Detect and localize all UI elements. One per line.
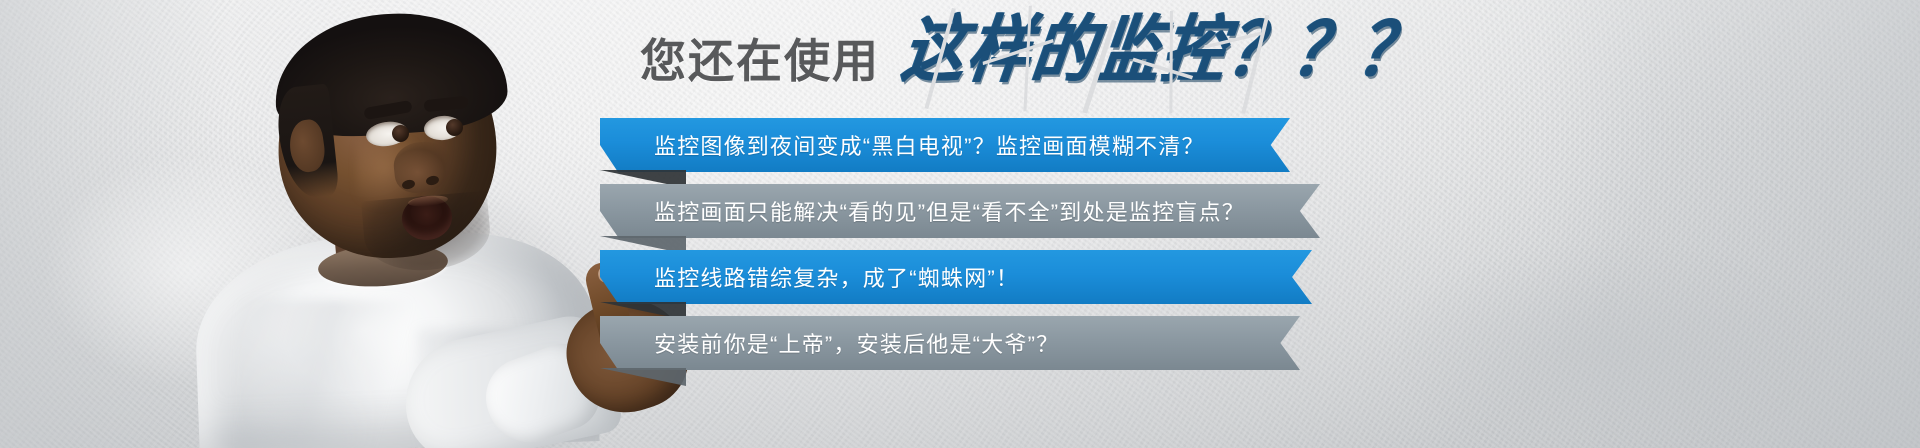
pain-point-text-4: 安装前你是“上帝”，安装后他是“大爷”？ — [654, 316, 1059, 370]
pain-point-text-2: 监控画面只能解决“看的见”但是“看不全”到处是监控盲点？ — [654, 184, 1245, 238]
pain-point-row-3: 监控线路错综复杂，成了“蜘蛛网”！ — [600, 250, 1312, 304]
headline: 您还在使用 这样的监控？？？ — [640, 26, 1418, 88]
pain-point-row-1: 监控图像到夜间变成“黑白电视”？监控画面模糊不清？ — [600, 118, 1290, 172]
headline-accent-label: 这样的监控？？？ — [898, 10, 1429, 91]
headline-accent-text: 这样的监控？？？ — [898, 15, 1428, 88]
bar-corner-shadow — [600, 368, 686, 386]
pain-point-text-3: 监控线路错综复杂，成了“蜘蛛网”！ — [654, 250, 1019, 304]
pain-point-list: 监控图像到夜间变成“黑白电视”？监控画面模糊不清？ 监控画面只能解决“看的见”但… — [0, 118, 1920, 358]
promo-banner: 您还在使用 这样的监控？？？ 监控图像到夜间变成“黑白电视”？监控画面模糊不清？… — [0, 0, 1920, 448]
pain-point-row-2: 监控画面只能解决“看的见”但是“看不全”到处是监控盲点？ — [600, 184, 1320, 238]
pain-point-row-4: 安装前你是“上帝”，安装后他是“大爷”？ — [600, 316, 1300, 370]
pain-point-text-1: 监控图像到夜间变成“黑白电视”？监控画面模糊不清？ — [654, 118, 1205, 172]
headline-lead-text: 您还在使用 — [640, 38, 880, 88]
